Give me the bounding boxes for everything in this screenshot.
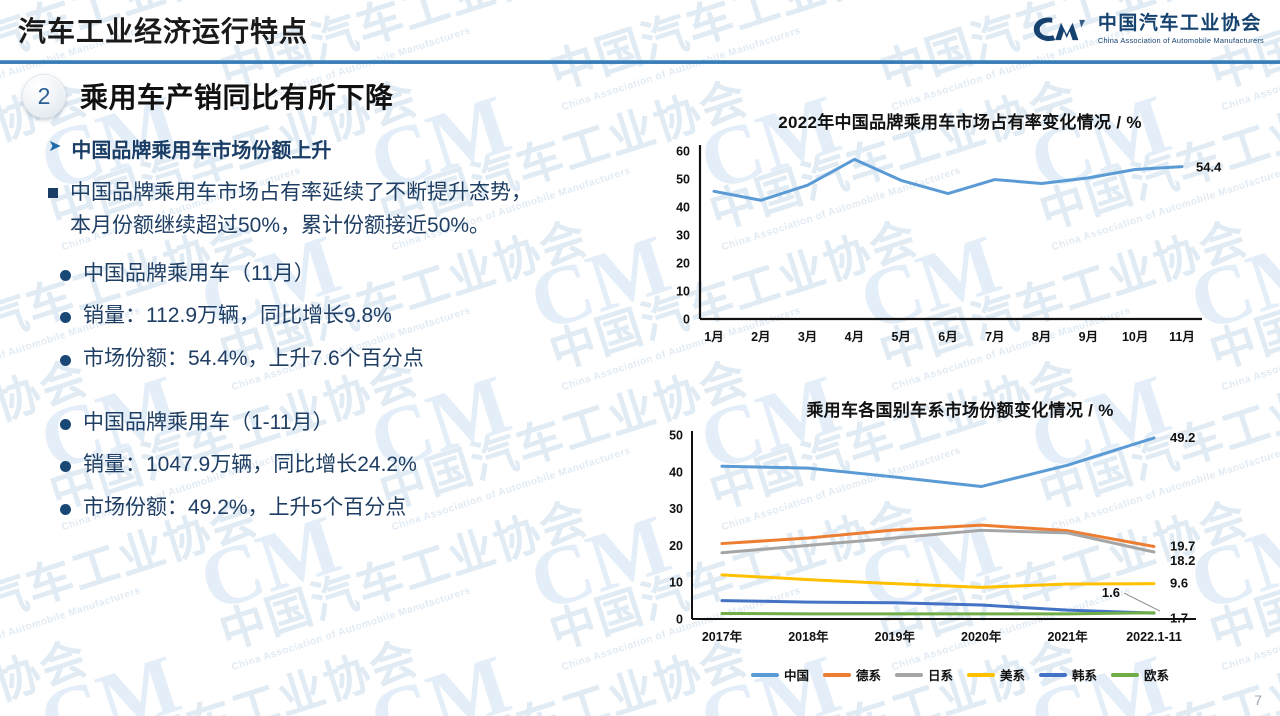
list-item-label: 市场份额：49.2%，上升5个百分点 <box>83 494 406 522</box>
section-heading: 2 乘用车产销同比有所下降 <box>22 74 394 118</box>
legend-item-美系[interactable]: 美系 <box>967 665 1025 684</box>
legend-label: 美系 <box>1000 665 1025 684</box>
legend-item-德系[interactable]: 德系 <box>823 665 881 684</box>
list-item: 市场份额：54.4%，上升7.6个百分点 <box>60 345 640 373</box>
list-item: 销量：112.9万辆，同比增长9.8% <box>60 302 640 330</box>
chart-title: 2022年中国品牌乘用车市场占有率变化情况 / % <box>640 108 1280 133</box>
legend-label: 日系 <box>928 665 953 684</box>
dot-bullet-icon <box>60 312 71 323</box>
chart-title: 乘用车各国别车系市场份额变化情况 / % <box>640 396 1280 421</box>
list-item: 市场份额：49.2%，上升5个百分点 <box>60 494 640 522</box>
chart-text: 54.4 <box>1196 160 1222 175</box>
chart-text: 40 <box>669 465 683 479</box>
page-title: 汽车工业经济运行特点 <box>18 10 308 50</box>
chart-text: 11月 <box>1169 330 1195 344</box>
header-divider <box>0 60 1280 64</box>
chart-plot-area: 01020304050601月2月3月4月5月6月7月8月9月10月11月54.… <box>640 133 1280 365</box>
chart-text: 2018年 <box>788 629 829 644</box>
left-content-column: ➤ 中国品牌乘用车市场份额上升 中国品牌乘用车市场占有率延续了不断提升态势，本月… <box>0 134 640 694</box>
chart-text: 9.6 <box>1170 576 1188 591</box>
chart-legend: 中国德系日系美系韩系欧系 <box>640 665 1280 684</box>
chart-text: 20 <box>676 257 690 271</box>
square-bullet-icon <box>48 188 58 198</box>
list-item-label: 中国品牌乘用车（1-11月） <box>83 409 333 437</box>
level1-label: 中国品牌乘用车市场份额上升 <box>71 134 331 163</box>
list-item-label: 中国品牌乘用车（11月） <box>83 260 315 288</box>
chart-text: 60 <box>676 145 690 159</box>
chart-text: 2021年 <box>1047 629 1088 644</box>
chart-text: 20 <box>669 539 683 553</box>
chart-text: 5月 <box>891 330 910 344</box>
chart-text: 0 <box>676 613 683 627</box>
chart-series-line <box>722 575 1154 588</box>
dot-bullet-icon <box>60 419 71 430</box>
chart-text: 30 <box>676 229 690 243</box>
legend-swatch-icon <box>967 673 995 677</box>
chart-text: 10 <box>669 576 683 590</box>
section-number-badge: 2 <box>22 74 66 118</box>
legend-label: 韩系 <box>1072 665 1097 684</box>
bullet-group-month: 中国品牌乘用车（11月） 销量：112.9万辆，同比增长9.8% 市场份额：54… <box>60 260 640 373</box>
legend-label: 中国 <box>784 665 809 684</box>
chart-text: 18.2 <box>1170 553 1195 568</box>
arrow-right-icon: ➤ <box>48 134 61 160</box>
chart-text: 49.2 <box>1170 430 1195 445</box>
bullet-group-cumulative: 中国品牌乘用车（1-11月） 销量：1047.9万辆，同比增长24.2% 市场份… <box>60 409 640 522</box>
list-item-label: 销量：112.9万辆，同比增长9.8% <box>83 302 392 330</box>
slide-header: 汽车工业经济运行特点 中国汽车工业协会 China Association of… <box>0 0 1280 62</box>
chart-text: 2017年 <box>702 629 743 644</box>
dot-bullet-icon <box>60 504 71 515</box>
chart-text: 10月 <box>1122 330 1148 344</box>
legend-item-中国[interactable]: 中国 <box>751 665 809 684</box>
logo-title-cn: 中国汽车工业协会 <box>1098 14 1264 34</box>
legend-swatch-icon <box>823 673 851 677</box>
chart-text: 2022.1-11 <box>1126 630 1182 644</box>
level2-point: 中国品牌乘用车市场占有率延续了不断提升态势，本月份额继续超过50%，累计份额接近… <box>48 177 640 242</box>
legend-swatch-icon <box>751 673 779 677</box>
level1-point: ➤ 中国品牌乘用车市场份额上升 <box>48 134 640 163</box>
chart-series-line <box>722 438 1154 487</box>
legend-label: 欧系 <box>1144 665 1169 684</box>
logo-text-block: 中国汽车工业协会 China Association of Automobile… <box>1098 14 1264 45</box>
legend-item-韩系[interactable]: 韩系 <box>1039 665 1097 684</box>
chart-text: 1.6 <box>1102 585 1120 600</box>
chart-text: 4月 <box>845 330 864 344</box>
slide-root: 中国汽车工业协会China Association of Automobile … <box>0 0 1280 716</box>
group-spacer <box>0 387 640 409</box>
list-item-label: 市场份额：54.4%，上升7.6个百分点 <box>83 345 424 373</box>
chart-text: 9月 <box>1079 330 1098 344</box>
chart-text: 2019年 <box>875 629 916 644</box>
chart-text: 8月 <box>1032 330 1051 344</box>
list-item: 中国品牌乘用车（1-11月） <box>60 409 640 437</box>
legend-swatch-icon <box>1111 673 1139 677</box>
page-number: 7 <box>1254 692 1262 708</box>
chart-text: 40 <box>676 201 690 215</box>
chart-text: 50 <box>676 173 690 187</box>
chart-text: 30 <box>669 502 683 516</box>
chart-share-by-country: 乘用车各国别车系市场份额变化情况 / % 010203040502017年201… <box>640 396 1280 696</box>
legend-item-欧系[interactable]: 欧系 <box>1111 665 1169 684</box>
chart-series-line <box>722 601 1154 614</box>
legend-label: 德系 <box>856 665 881 684</box>
list-item: 中国品牌乘用车（11月） <box>60 260 640 288</box>
chart-series-line <box>714 159 1182 200</box>
dot-bullet-icon <box>60 355 71 366</box>
chart-text: 50 <box>669 429 683 443</box>
dot-bullet-icon <box>60 461 71 472</box>
chart-text: 10 <box>676 285 690 299</box>
logo-title-en: China Association of Automobile Manufact… <box>1098 37 1264 45</box>
list-item: 销量：1047.9万辆，同比增长24.2% <box>60 451 640 479</box>
chart-text: 3月 <box>798 330 817 344</box>
dot-bullet-icon <box>60 270 71 281</box>
chart-plot-area: 010203040502017年2018年2019年2020年2021年2022… <box>640 421 1280 661</box>
chart-text: 1.7 <box>1170 611 1188 626</box>
list-item-label: 销量：1047.9万辆，同比增长24.2% <box>83 451 417 479</box>
legend-item-日系[interactable]: 日系 <box>895 665 953 684</box>
chart-text: 0 <box>683 313 690 327</box>
chart-text: 1月 <box>704 330 723 344</box>
cam-logo-icon <box>1031 12 1089 46</box>
section-title: 乘用车产销同比有所下降 <box>80 76 394 116</box>
level2-label: 中国品牌乘用车市场占有率延续了不断提升态势，本月份额继续超过50%，累计份额接近… <box>70 177 550 242</box>
chart-text: 6月 <box>938 330 957 344</box>
chart-text: 2020年 <box>961 629 1002 644</box>
chart-text: 7月 <box>985 330 1004 344</box>
chart-china-brand-share: 2022年中国品牌乘用车市场占有率变化情况 / % 01020304050601… <box>640 108 1280 368</box>
org-logo: 中国汽车工业协会 China Association of Automobile… <box>1031 12 1264 46</box>
chart-series-line <box>722 613 1154 614</box>
chart-series-line <box>722 525 1154 546</box>
legend-swatch-icon <box>1039 673 1067 677</box>
chart-text: 19.7 <box>1170 539 1195 554</box>
legend-swatch-icon <box>895 673 923 677</box>
chart-text: 2月 <box>751 330 770 344</box>
